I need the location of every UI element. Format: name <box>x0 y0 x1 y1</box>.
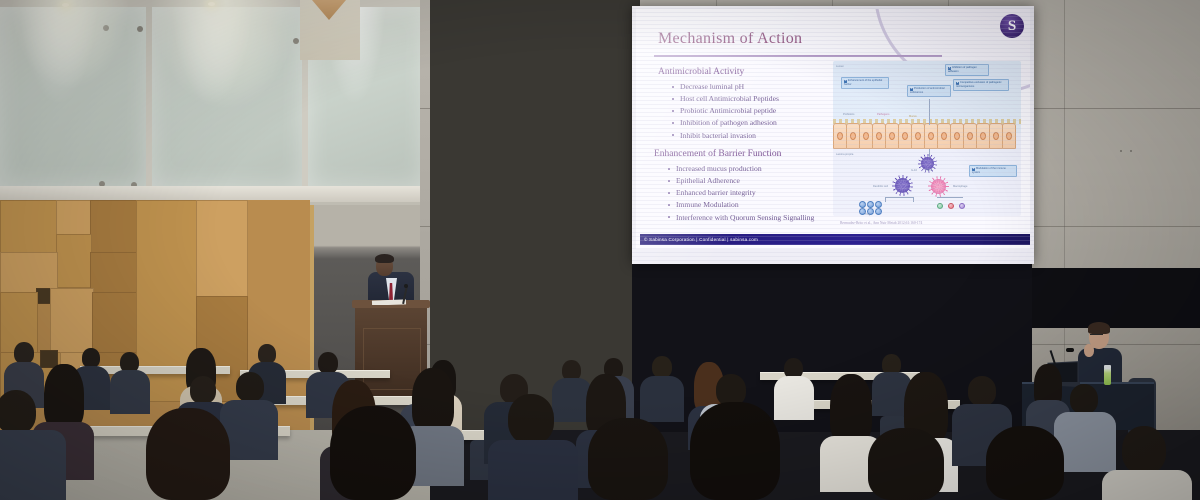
epithelial-cell-row <box>833 123 1021 147</box>
figure-label-text: Modulation of the immune system <box>972 167 1006 174</box>
presentation-slide: S Mechanism of Action Antimicrobial Acti… <box>636 9 1030 249</box>
section-heading-antimicrobial: Antimicrobial Activity <box>658 67 744 77</box>
dendritic-cell <box>895 178 910 193</box>
figure-annotation-lumen: Lumen <box>836 65 844 68</box>
frosted-glass-panel-2 <box>152 6 302 186</box>
wood-tile <box>56 200 92 236</box>
glass-mount-2 <box>137 26 143 32</box>
speaker-hair <box>375 254 394 263</box>
wood-tile <box>0 200 58 254</box>
figure-annotation-probiotics: Probiotics <box>843 113 854 116</box>
bullet-item: Immune Modulation <box>666 201 814 209</box>
lecture-hall-photo: S Mechanism of Action Antimicrobial Acti… <box>0 0 1200 500</box>
mechanism-of-action-diagram: Lumen 1Enhancement of the epithelial bar… <box>833 61 1021 216</box>
bullet-item: Interference with Quorum Sensing Signall… <box>666 214 814 222</box>
bullet-list-antimicrobial: Decrease luminal pH Host cell Antimicrob… <box>670 83 779 144</box>
bullet-item: Inhibit bacterial invasion <box>670 132 779 140</box>
figure-annotation-il10: IL-10 <box>911 169 917 172</box>
frosted-glass-panel-1 <box>0 6 146 186</box>
bullet-item: Increased mucus production <box>666 165 814 173</box>
figure-annotation-dendritic: Dendritic cell <box>873 185 888 188</box>
figure-annotation-macrophage: Macrophage <box>953 185 967 188</box>
bullet-list-barrier: Increased mucus production Epithelial Ad… <box>666 165 814 226</box>
figure-annotation-treg: Treg <box>865 213 870 216</box>
glass-mount-1 <box>103 25 109 31</box>
figure-label-text: Inhibition of pathogen adhesion <box>948 66 977 73</box>
figure-label-3: 3Production of antimicrobial substances <box>907 85 951 97</box>
podium-microphone-icon <box>404 284 408 288</box>
seated-audience <box>0 330 1200 500</box>
projection-screen: S Mechanism of Action Antimicrobial Acti… <box>632 6 1034 264</box>
figure-label-text: Enhancement of the epithelial barrier <box>844 79 882 86</box>
right-dark-panel <box>1032 268 1200 328</box>
figure-annotation-pathogens: Pathogens <box>877 113 889 116</box>
figure-annotation-tgfb: TGF-b <box>925 169 933 172</box>
figure-label-4: 4Competitive exclusion of pathogenic mic… <box>953 79 1009 91</box>
sabinsa-logo-icon: S <box>1000 14 1024 38</box>
glass-mount-3 <box>293 38 299 44</box>
section-heading-barrier: Enhancement of Barrier Function <box>654 149 781 159</box>
ceiling-light-1 <box>62 3 69 7</box>
figure-annotation-mucus: Mucus <box>909 115 917 118</box>
logo-letter: S <box>1008 19 1016 34</box>
figure-label-2: 2Inhibition of pathogen adhesion <box>945 64 989 76</box>
wood-tile <box>56 234 92 288</box>
bullet-item: Decrease luminal pH <box>670 83 779 91</box>
wood-tile <box>90 200 138 254</box>
figure-label-text: Competitive exclusion of pathogenic micr… <box>956 81 1002 88</box>
bullet-item: Inhibition of pathogen adhesion <box>670 119 779 127</box>
slide-footer-bar: © Sabinsa Corporation | Confidential | s… <box>640 234 1030 245</box>
wood-tile <box>196 200 248 298</box>
ceiling-light-2 <box>208 2 215 6</box>
figure-citation: Bermudez-Brito et al., Ann Nutr Metab 20… <box>840 221 1020 225</box>
figure-label-text: Production of antimicrobial substances <box>910 87 945 94</box>
title-underline <box>654 55 942 57</box>
figure-annotation-lamina: Lamina propria <box>836 153 853 156</box>
slide-title: Mechanism of Action <box>658 30 802 48</box>
bullet-item: Host cell Antimicrobial Peptides <box>670 95 779 103</box>
macrophage <box>931 179 946 194</box>
wood-tile <box>90 252 138 294</box>
figure-label-6: 6Modulation of the immune system <box>969 165 1017 177</box>
glass-mullion-1 <box>146 0 152 190</box>
bullet-item: Enhanced barrier integrity <box>666 189 814 197</box>
bullet-item: Probiotic Antimicrobial peptide <box>670 107 779 115</box>
bullet-item: Epithelial Adherence <box>666 177 814 185</box>
figure-label-1: 1Enhancement of the epithelial barrier <box>841 77 889 89</box>
